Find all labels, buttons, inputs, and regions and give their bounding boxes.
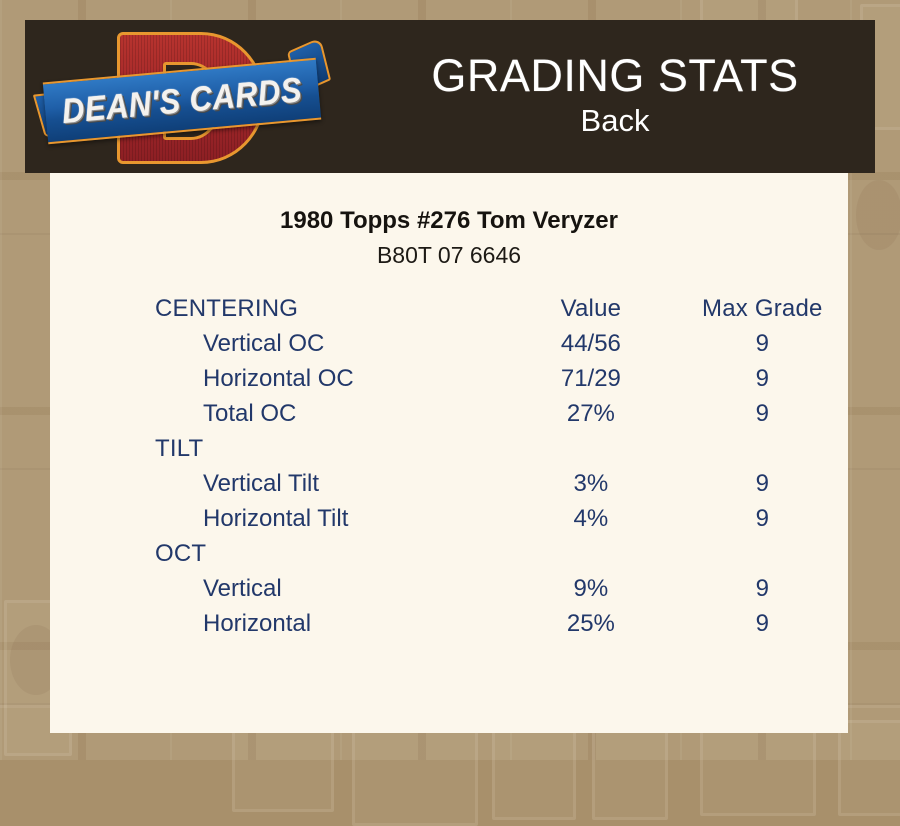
stat-label: Vertical OC — [50, 323, 505, 358]
stat-max-grade: 9 — [677, 393, 848, 428]
header-title-block: GRADING STATS Back — [355, 20, 875, 173]
table-row: Total OC27%9 — [50, 393, 848, 428]
column-header-centering: CENTERING — [50, 295, 505, 323]
section-spacer-value — [505, 533, 677, 568]
stat-max-grade: 9 — [677, 603, 848, 638]
stat-value: 3% — [505, 463, 677, 498]
stat-label: Horizontal — [50, 603, 505, 638]
bg-card-decoration — [352, 730, 478, 826]
bg-card-decoration — [492, 728, 576, 820]
table-header-row: CENTERING Value Max Grade — [50, 295, 848, 323]
stat-label: Horizontal Tilt — [50, 498, 505, 533]
section-spacer-max — [677, 533, 848, 568]
table-row: Horizontal Tilt4%9 — [50, 498, 848, 533]
section-spacer-max — [677, 428, 848, 463]
page-title: GRADING STATS — [431, 53, 798, 100]
page-subtitle: Back — [581, 102, 650, 141]
table-head: CENTERING Value Max Grade — [50, 295, 848, 323]
column-header-value: Value — [505, 295, 677, 323]
content-panel: 1980 Topps #276 Tom Veryzer B80T 07 6646… — [50, 173, 848, 733]
section-spacer-value — [505, 428, 677, 463]
section-header-row: OCT — [50, 533, 848, 568]
deans-cards-logo[interactable]: DEAN'S CARDS — [45, 26, 325, 168]
stat-value: 4% — [505, 498, 677, 533]
bg-card-decoration — [700, 730, 816, 816]
section-label: OCT — [50, 533, 505, 568]
header-bar: DEAN'S CARDS GRADING STATS Back — [25, 20, 875, 173]
stat-value: 71/29 — [505, 358, 677, 393]
grading-stats-table: CENTERING Value Max Grade Vertical OC44/… — [50, 295, 848, 638]
section-label: TILT — [50, 428, 505, 463]
section-header-row: TILT — [50, 428, 848, 463]
bg-card-decoration — [232, 726, 334, 812]
stat-label: Vertical Tilt — [50, 463, 505, 498]
stat-max-grade: 9 — [677, 463, 848, 498]
bg-card-decoration — [838, 720, 900, 816]
stat-label: Horizontal OC — [50, 358, 505, 393]
logo-ribbon: DEAN'S CARDS — [43, 58, 321, 145]
stat-max-grade: 9 — [677, 323, 848, 358]
stat-max-grade: 9 — [677, 498, 848, 533]
table-row: Vertical9%9 — [50, 568, 848, 603]
stat-max-grade: 9 — [677, 568, 848, 603]
stat-label: Total OC — [50, 393, 505, 428]
stat-value: 9% — [505, 568, 677, 603]
table-body: Vertical OC44/569Horizontal OC71/299Tota… — [50, 323, 848, 638]
stat-label: Vertical — [50, 568, 505, 603]
table-row: Vertical OC44/569 — [50, 323, 848, 358]
card-title: 1980 Topps #276 Tom Veryzer — [50, 207, 848, 235]
stat-max-grade: 9 — [677, 358, 848, 393]
table-row: Horizontal OC71/299 — [50, 358, 848, 393]
logo-wordmark: DEAN'S CARDS — [60, 70, 303, 132]
stat-value: 25% — [505, 603, 677, 638]
table-row: Vertical Tilt3%9 — [50, 463, 848, 498]
column-header-max-grade: Max Grade — [677, 295, 848, 323]
stat-value: 27% — [505, 393, 677, 428]
stat-value: 44/56 — [505, 323, 677, 358]
bg-card-decoration — [592, 724, 668, 820]
bg-portrait-blob — [856, 180, 900, 250]
card-serial: B80T 07 6646 — [50, 242, 848, 269]
table-row: Horizontal25%9 — [50, 603, 848, 638]
